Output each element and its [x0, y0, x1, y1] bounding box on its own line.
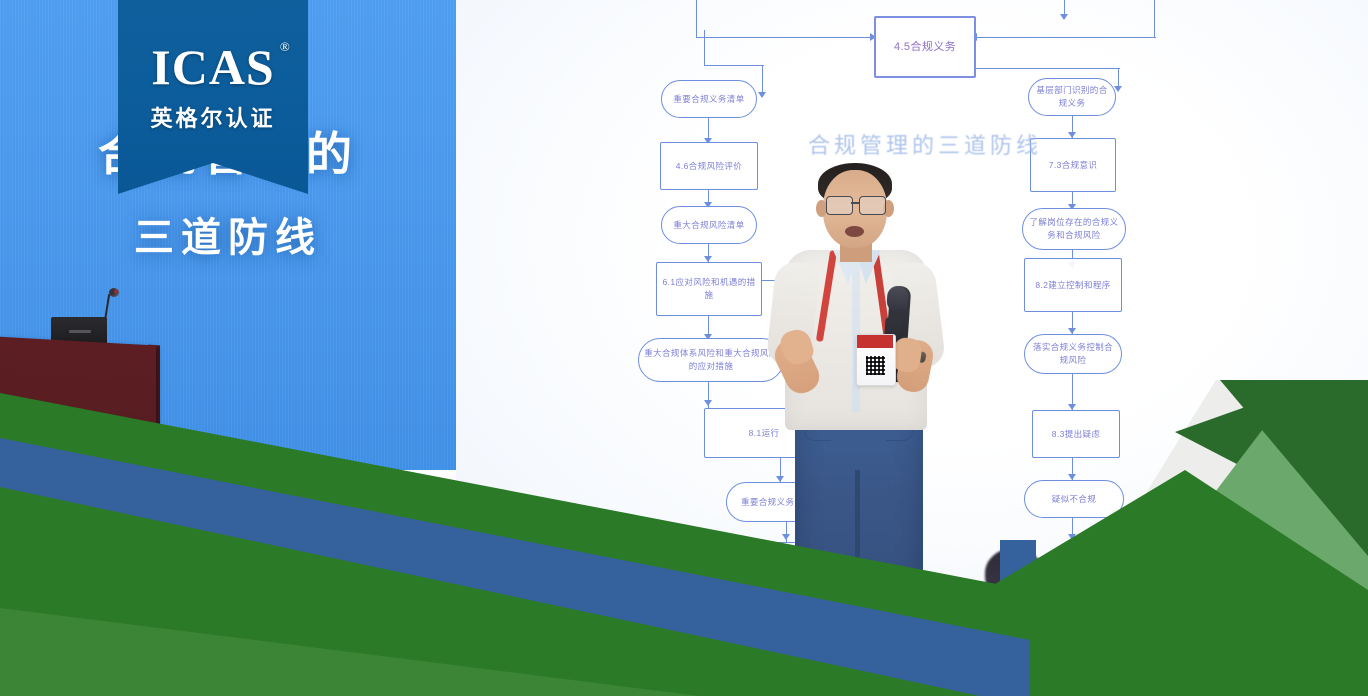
flow-node-r6: 8.3提出疑虑	[1032, 410, 1120, 458]
flow-node-r2: 7.3合规意识	[1030, 138, 1116, 192]
arrow-icon	[704, 400, 712, 406]
arrow-icon	[782, 534, 790, 540]
slide-title: 合规管理的三道防线	[808, 128, 1042, 160]
speaker-mouth	[845, 226, 864, 237]
icas-chinese-subtitle: 英格尔认证	[150, 101, 275, 133]
flow-node-r5: 落实合规义务控制合规风险	[1024, 334, 1122, 374]
registered-trademark-icon: ®	[280, 40, 291, 53]
flow-node-r3: 了解岗位存在的合规义务和合规风险	[1022, 208, 1126, 250]
connector	[976, 37, 1156, 38]
flow-node-l5: 重大合规体系风险和重大合规风险的应对措施	[638, 338, 784, 382]
connector	[976, 68, 1120, 69]
arrow-icon	[1060, 14, 1068, 20]
icas-wordmark: ICAS ®	[151, 42, 274, 92]
flow-node-l4: 6.1应对风险和机遇的措施	[656, 262, 762, 316]
flow-node-l3: 重大合规风险清单	[661, 206, 757, 244]
flow-node-l2: 4.6合规风险评价	[660, 142, 758, 190]
qr-code-icon	[866, 356, 885, 375]
eyeglasses-bridge	[851, 202, 859, 204]
flow-node-r4: 8.2建立控制和程序	[1024, 258, 1122, 312]
name-badge-header	[857, 335, 893, 348]
flow-node-l1: 重要合规义务清单	[661, 80, 757, 118]
flow-node-r1: 基层部门识别的合规义务	[1028, 78, 1116, 116]
connector	[704, 65, 764, 66]
arrow-icon	[758, 92, 766, 98]
connector	[696, 0, 697, 38]
eyeglasses-icon	[826, 196, 853, 215]
conference-photo-stage: 合规管理的 三道防线 4.5合规义务 重要合规义务清单 4.6合规风险评价 重大…	[0, 0, 1368, 696]
eyeglasses-icon	[859, 196, 886, 215]
gooseneck-microphone-icon	[109, 288, 119, 297]
flow-node-r7: 疑似不合规	[1024, 480, 1124, 518]
wall-headline-line2: 三道防线	[0, 205, 456, 263]
flow-node-main: 4.5合规义务	[874, 16, 976, 78]
connector	[1154, 0, 1155, 38]
icas-wordmark-text: ICAS	[151, 39, 274, 95]
connector	[696, 37, 874, 38]
connector	[704, 30, 705, 66]
